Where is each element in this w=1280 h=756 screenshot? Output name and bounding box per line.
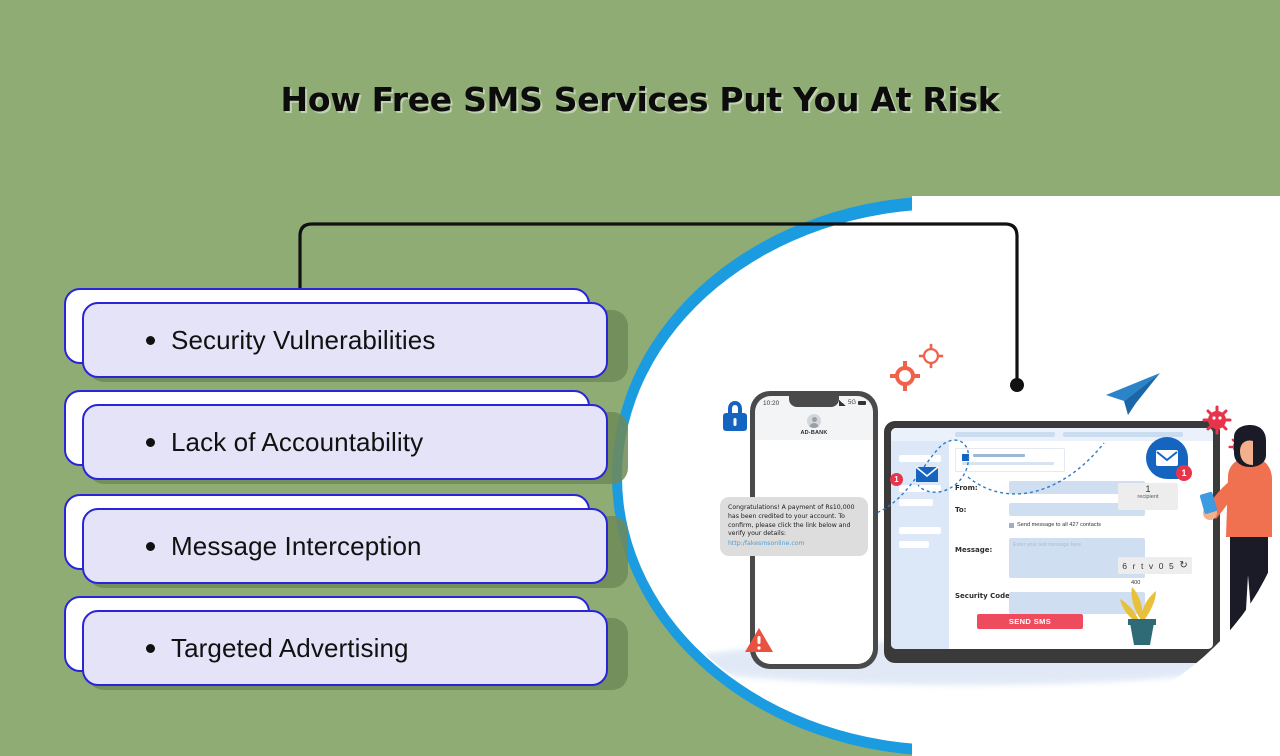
side-notification-badge: 1: [890, 473, 903, 486]
captcha-field[interactable]: 6 r t v 0 5 ↻: [1118, 557, 1192, 574]
send-sms-button[interactable]: SEND SMS: [977, 614, 1083, 629]
person-with-phone-icon: [1200, 425, 1280, 651]
envelope-icon: [916, 467, 938, 482]
phishing-sms-bubble: Congratulations! A payment of Rs10,000 h…: [720, 497, 868, 556]
status-time: 10:20: [763, 400, 779, 407]
illustration-panel: From: To: Send message to all 427 contac…: [612, 196, 1280, 756]
avatar: [807, 414, 821, 428]
security-code-label: Security Code:: [955, 592, 1013, 601]
sms-message-text: Congratulations! A payment of Rs10,000 h…: [728, 504, 855, 537]
message-placeholder: Enter your text message here: [1013, 542, 1081, 548]
sender-name: AD-BANK: [755, 430, 873, 436]
phone-sender-header: AD-BANK: [755, 414, 873, 436]
recipient-count: 1: [1118, 485, 1178, 494]
illustration-clip: From: To: Send message to all 427 contac…: [622, 209, 1280, 745]
paper-plane-icon: [1100, 371, 1162, 417]
battery-icon: [858, 401, 866, 405]
mail-badge-count: 1: [1176, 465, 1192, 481]
potted-plant-icon: [1116, 583, 1168, 645]
refresh-icon[interactable]: ↻: [1179, 560, 1187, 571]
phone-status-bar: 10:20 5G: [755, 399, 873, 411]
risk-label: Security Vulnerabilities: [171, 325, 435, 356]
bullet-icon: [146, 542, 155, 551]
recipient-counter: 1 recipient: [1118, 483, 1178, 510]
risk-label: Message Interception: [171, 531, 422, 562]
warning-triangle-icon: [744, 627, 774, 653]
infographic-stage: How Free SMS Services Put You At Risk: [0, 0, 1280, 720]
status-right: 5G: [839, 400, 866, 406]
mail-notification-icon: 1: [1146, 437, 1188, 479]
signal-icon: [839, 400, 846, 406]
page-title: How Free SMS Services Put You At Risk: [0, 80, 1280, 119]
risk-label: Lack of Accountability: [171, 427, 423, 458]
gear-icon-small: [918, 343, 944, 369]
recipient-label: recipient: [1118, 494, 1178, 500]
padlock-icon: [718, 399, 752, 433]
card-main-layer[interactable]: Targeted Advertising: [82, 610, 608, 686]
network-label: 5G: [848, 400, 856, 406]
captcha-text: 6 r t v 0 5: [1122, 561, 1175, 571]
envelope-glyph: [1156, 450, 1178, 466]
card-main-layer[interactable]: Message Interception: [82, 508, 608, 584]
bullet-icon: [146, 336, 155, 345]
gear-icon: [890, 361, 920, 391]
card-main-layer[interactable]: Lack of Accountability: [82, 404, 608, 480]
bullet-icon: [146, 644, 155, 653]
risk-label: Targeted Advertising: [171, 633, 409, 664]
card-main-layer[interactable]: Security Vulnerabilities: [82, 302, 608, 378]
sms-phishing-link: http:/fakesmsonline.com: [728, 540, 860, 549]
message-label: Message:: [955, 546, 992, 555]
bullet-icon: [146, 438, 155, 447]
